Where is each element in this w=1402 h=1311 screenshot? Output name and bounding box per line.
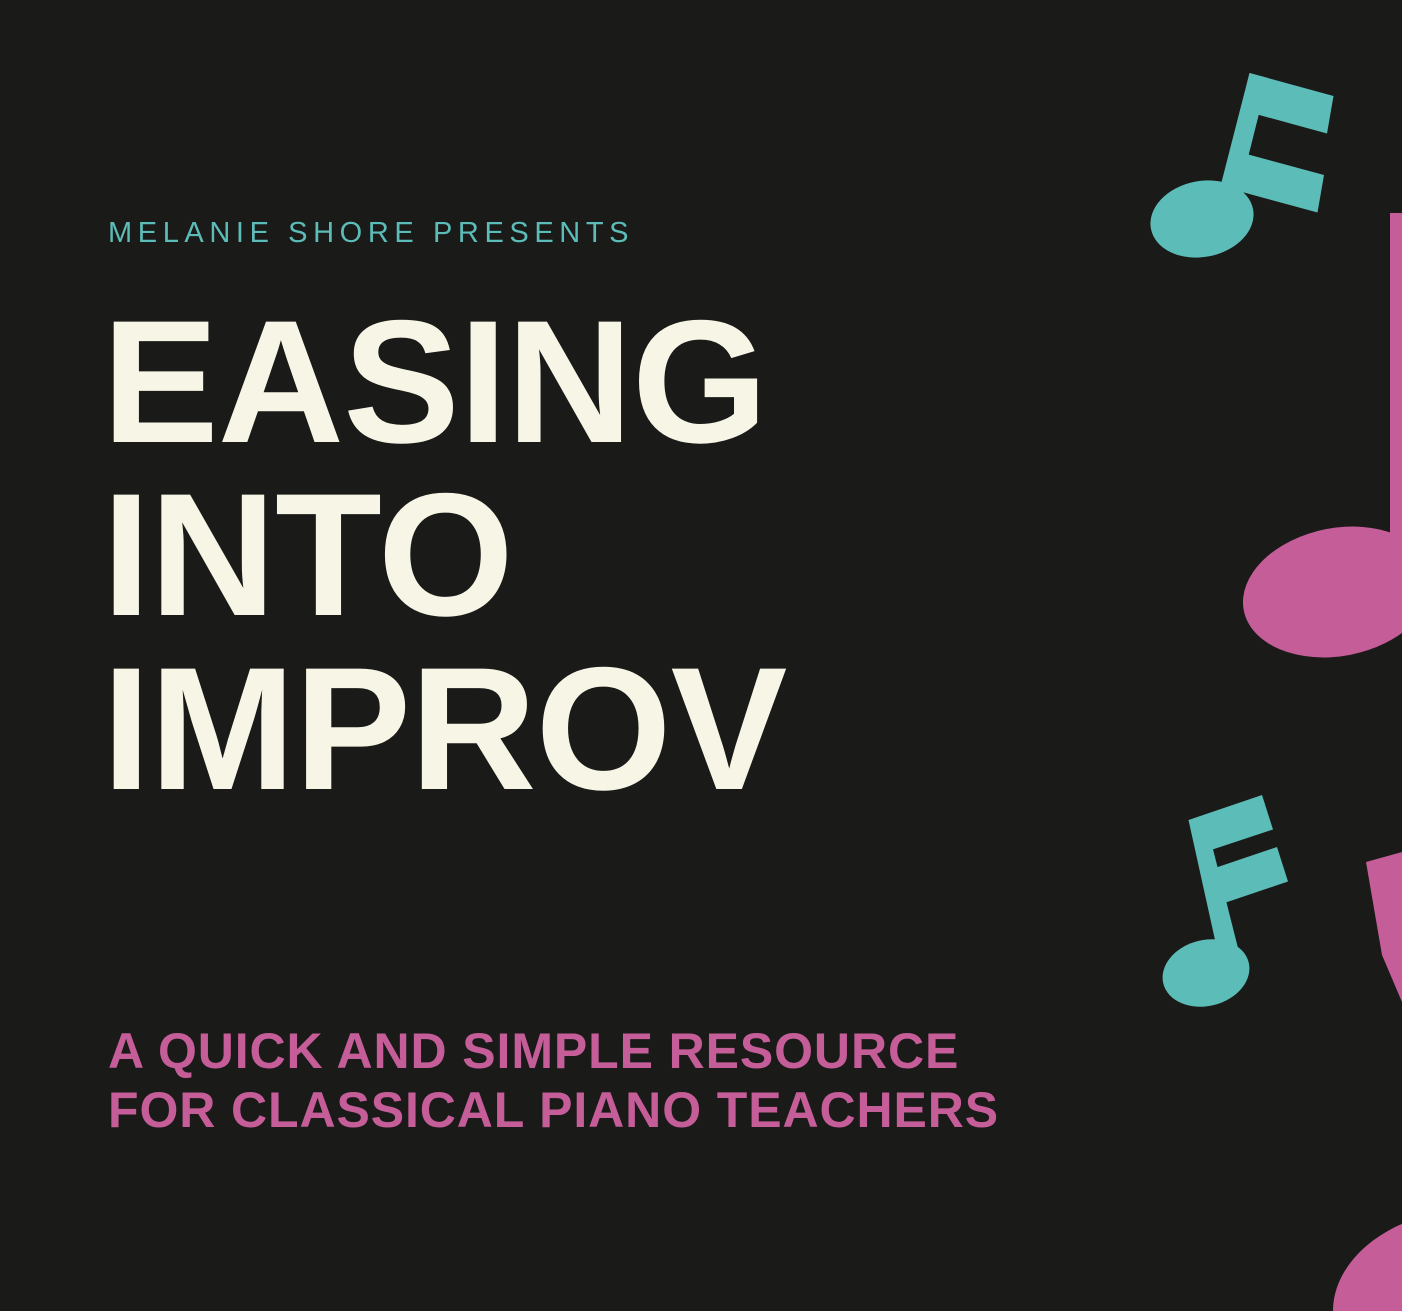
subtitle-line-1: A QUICK AND SIMPLE RESOURCE <box>108 1022 999 1081</box>
title-line-1: EASING <box>102 296 786 469</box>
presenter-kicker: MELANIE SHORE PRESENTS <box>108 219 634 248</box>
note-beam-pink-right-edge-icon <box>1366 852 1402 1002</box>
subtitle-line-2: FOR CLASSICAL PIANO TEACHERS <box>108 1081 999 1140</box>
quarter-note-pink-right-icon <box>1232 213 1402 673</box>
cover-text-block: MELANIE SHORE PRESENTS EASING INTO IMPRO… <box>108 0 1148 1311</box>
sixteenth-note-teal-bottom-right-icon <box>1155 795 1288 1016</box>
page-subtitle: A QUICK AND SIMPLE RESOURCE FOR CLASSICA… <box>108 1022 999 1139</box>
title-line-2: INTO <box>102 469 786 642</box>
page-title: EASING INTO IMPROV <box>102 296 786 816</box>
cover-poster: MELANIE SHORE PRESENTS EASING INTO IMPRO… <box>0 0 1402 1311</box>
title-line-3: IMPROV <box>102 643 786 816</box>
notehead-pink-bottom-right-corner-icon <box>1317 1191 1402 1311</box>
sixteenth-note-teal-top-right-icon <box>1144 73 1334 266</box>
